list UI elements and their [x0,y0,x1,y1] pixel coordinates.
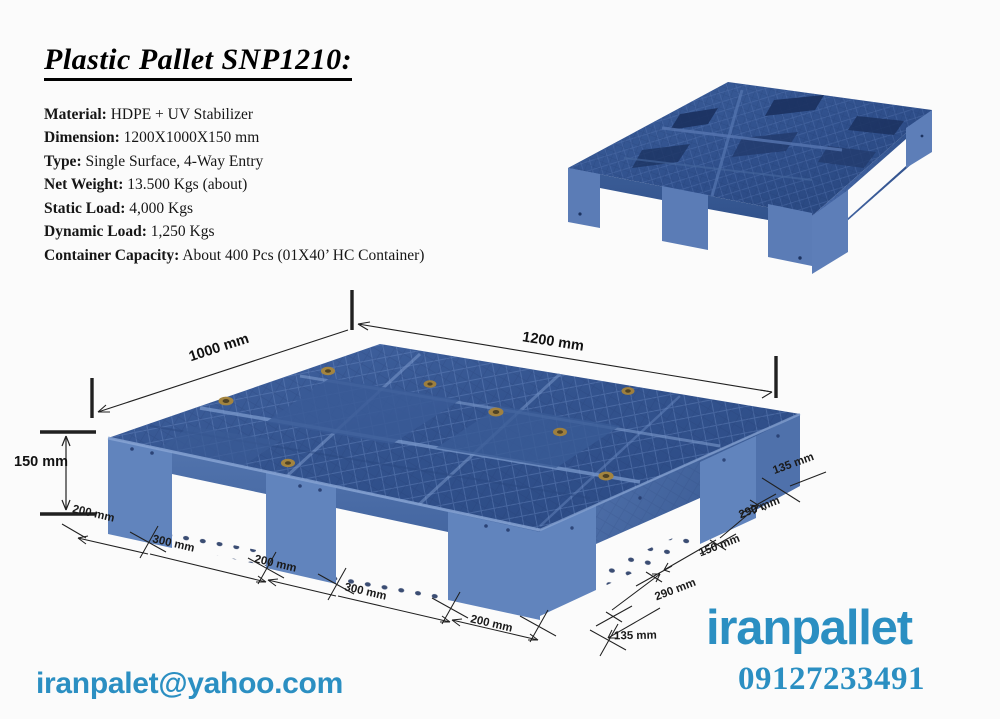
spec-label: Container Capacity: [44,247,179,264]
spec-label: Material: [44,106,107,123]
brand-logo-text: iranpallet [706,600,912,656]
spec-value: About 400 Pcs (01X40’ HC Container) [179,247,424,264]
spec-label: Dynamic Load: [44,223,147,240]
page-root: Plastic Pallet SNP1210: Material: HDPE +… [0,0,1000,719]
spec-label: Net Weight: [44,176,123,193]
spec-value: 1200X1000X150 mm [120,129,260,146]
specification-list: Material: HDPE + UV Stabilizer Dimension… [44,103,474,268]
contact-phone: 09127233491 [738,661,925,698]
spec-label: Type: [44,153,82,170]
spec-row-material: Material: HDPE + UV Stabilizer [44,103,474,127]
spec-row-dynamic-load: Dynamic Load: 1,250 Kgs [44,220,474,244]
spec-label: Static Load: [44,200,125,217]
pallet-product-photo [512,62,984,292]
spec-label: Dimension: [44,129,120,146]
spec-row-container-capacity: Container Capacity: About 400 Pcs (01X40… [44,244,474,268]
spec-row-type: Type: Single Surface, 4-Way Entry [44,150,474,174]
dim-label-front-135: 135 mm [614,630,657,643]
pallet-photo-illustration [512,62,984,292]
dim-label-height-150: 150 mm [14,454,68,470]
contact-email[interactable]: iranpalet@yahoo.com [36,667,343,701]
page-title: Plastic Pallet SNP1210: [44,44,352,81]
spec-value: HDPE + UV Stabilizer [107,106,253,123]
spec-value: 1,250 Kgs [147,223,215,240]
spec-value: 13.500 Kgs (about) [123,176,247,193]
spec-row-dimension: Dimension: 1200X1000X150 mm [44,126,474,150]
spec-value: Single Surface, 4-Way Entry [82,153,264,170]
spec-row-net-weight: Net Weight: 13.500 Kgs (about) [44,173,474,197]
spec-row-static-load: Static Load: 4,000 Kgs [44,197,474,221]
specification-block: Plastic Pallet SNP1210: Material: HDPE +… [44,44,474,267]
spec-value: 4,000 Kgs [125,200,193,217]
